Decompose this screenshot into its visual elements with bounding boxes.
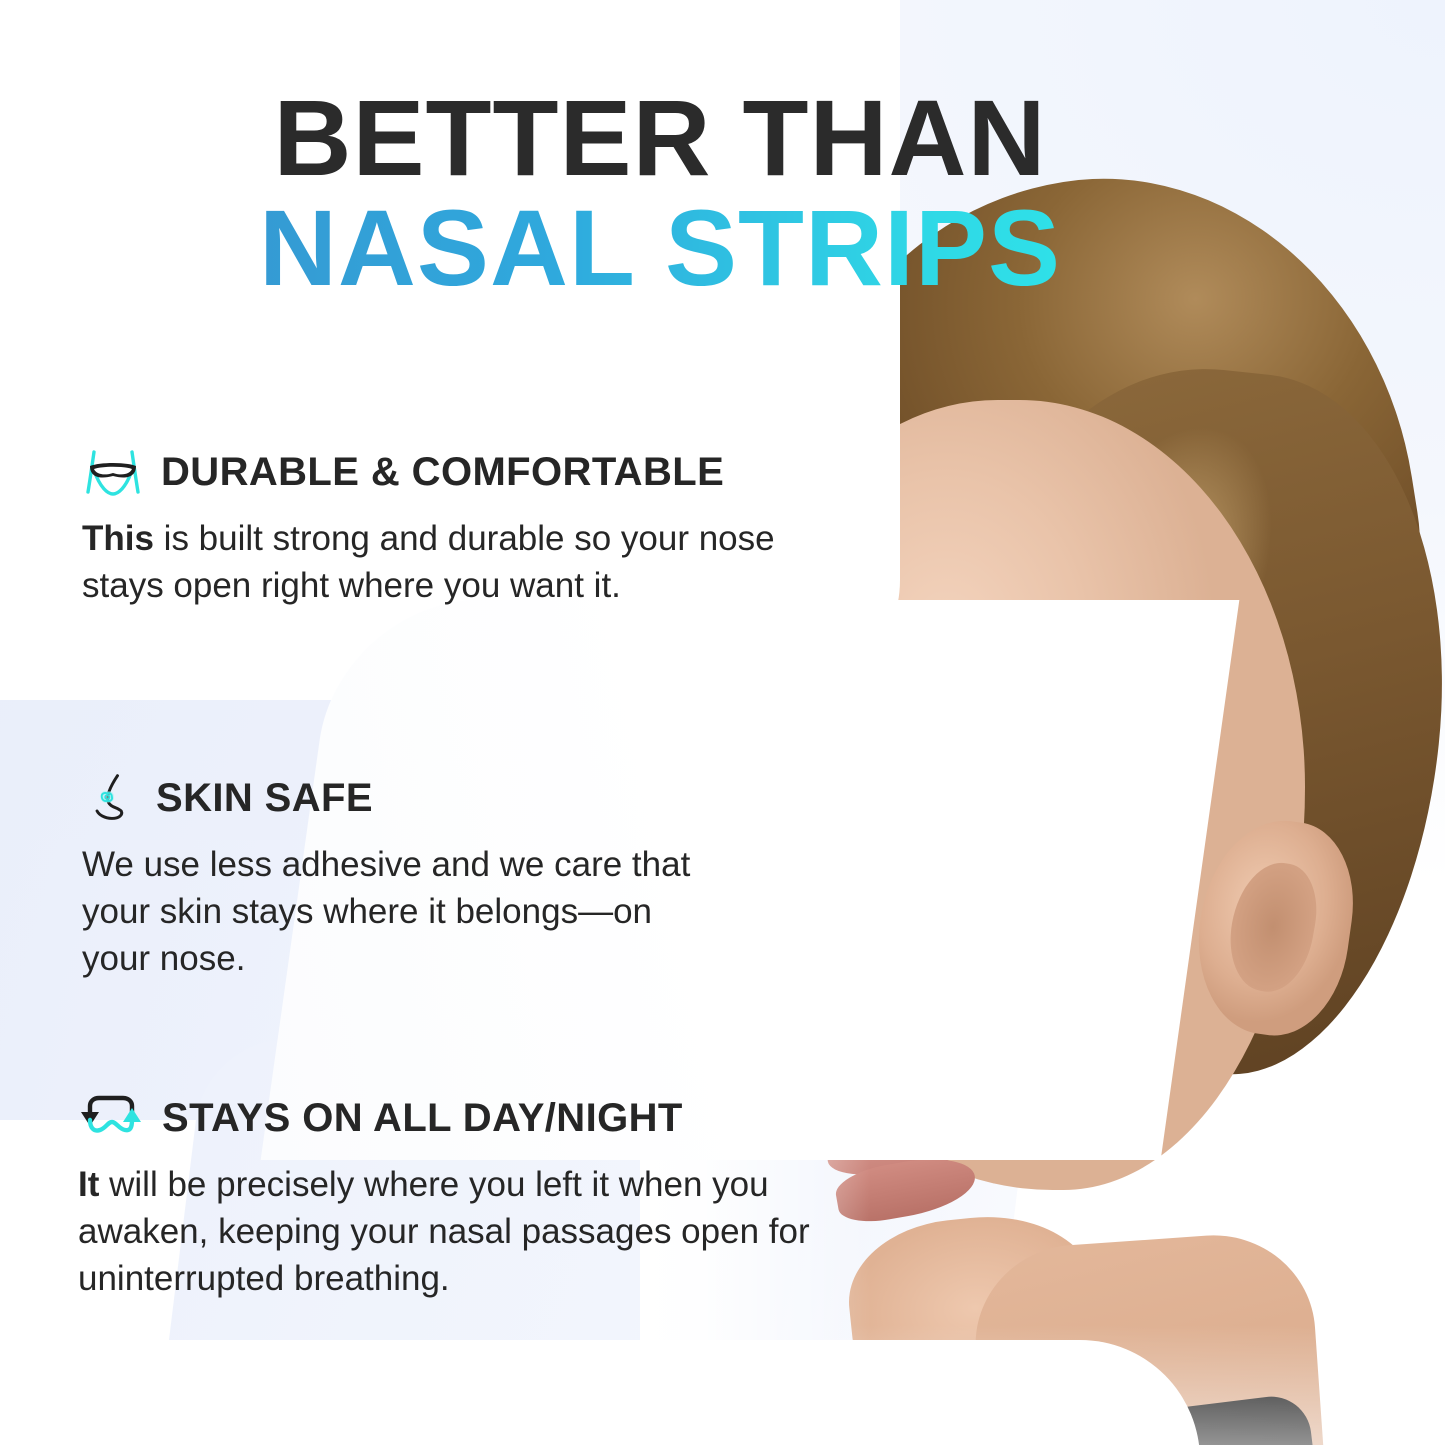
feature-durable-comfortable: DURABLE & COMFORTABLE This is built stro… <box>82 446 842 610</box>
feature-title: DURABLE & COMFORTABLE <box>161 450 724 495</box>
infographic-canvas: BETTER THAN NASAL STRIPS DURABLE & COMFO… <box>0 0 1445 1445</box>
feature-header: STAYS ON ALL DAY/NIGHT <box>78 1092 908 1144</box>
feature-body-lead: This <box>82 519 154 558</box>
nose-front-strip-icon <box>82 446 144 498</box>
panel-white-bottom <box>0 1340 1200 1445</box>
headline-line-2: NASAL STRIPS <box>0 196 1320 300</box>
feature-header: DURABLE & COMFORTABLE <box>82 446 842 498</box>
feature-title: SKIN SAFE <box>156 776 373 821</box>
headline-line-1: BETTER THAN <box>0 86 1320 190</box>
feature-skin-safe: SKIN SAFE We use less adhesive and we ca… <box>82 772 702 983</box>
feature-body-lead: It <box>78 1165 99 1204</box>
feature-body: We use less adhesive and we care that yo… <box>82 842 702 983</box>
feature-body-rest: will be precisely where you left it when… <box>78 1165 810 1298</box>
all-day-cycle-icon <box>78 1092 144 1144</box>
headline: BETTER THAN NASAL STRIPS <box>0 86 1320 299</box>
feature-body-rest: is built strong and durable so your nose… <box>82 519 775 605</box>
feature-body: It will be precisely where you left it w… <box>78 1162 908 1303</box>
feature-body: This is built strong and durable so your… <box>82 516 842 610</box>
feature-title: STAYS ON ALL DAY/NIGHT <box>162 1096 683 1141</box>
feature-header: SKIN SAFE <box>82 772 702 824</box>
nose-profile-patch-icon <box>88 772 134 824</box>
feature-stays-on-all-day-night: STAYS ON ALL DAY/NIGHT It will be precis… <box>78 1092 908 1303</box>
feature-body-rest: We use less adhesive and we care that yo… <box>82 845 690 978</box>
